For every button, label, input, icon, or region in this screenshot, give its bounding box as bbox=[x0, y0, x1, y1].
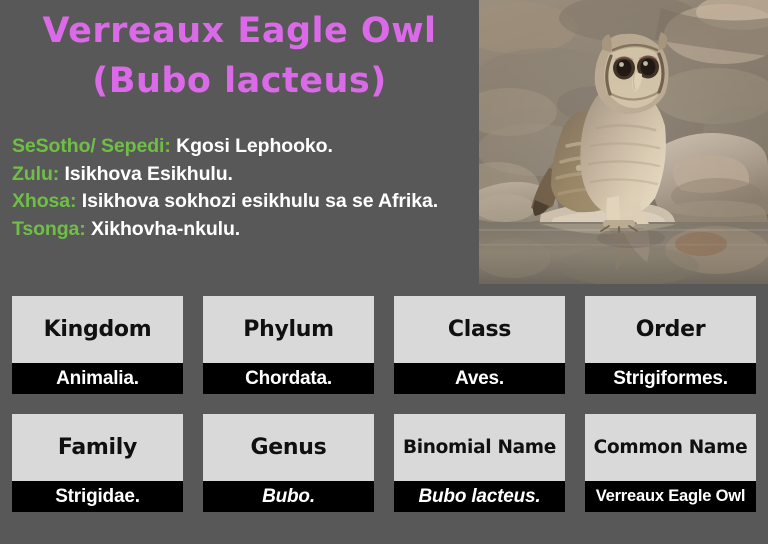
name-row: SeSotho/ Sepedi: Kgosi Lephooko. bbox=[12, 133, 474, 161]
title-line-common-name: Verreaux Eagle Owl bbox=[0, 6, 479, 56]
name-value: Xikhovha-nkulu. bbox=[91, 218, 240, 240]
name-label: Tsonga: bbox=[12, 218, 86, 240]
name-value: Kgosi Lephooko. bbox=[176, 135, 333, 157]
taxonomy-card-class: Class Aves. bbox=[394, 296, 565, 394]
taxonomy-card-order: Order Strigiformes. bbox=[585, 296, 756, 394]
taxonomy-value-bar: Strigiformes. bbox=[585, 363, 756, 394]
taxonomy-rank-label: Kingdom bbox=[44, 317, 152, 342]
taxonomy-value: Animalia. bbox=[56, 368, 139, 390]
name-value: Isikhova Esikhulu. bbox=[64, 163, 232, 185]
name-label: SeSotho/ Sepedi: bbox=[12, 135, 171, 157]
taxonomy-value: Bubo. bbox=[262, 486, 315, 508]
taxonomy-value: Chordata. bbox=[245, 368, 332, 390]
taxonomy-value-bar: Strigidae. bbox=[12, 481, 183, 512]
species-infographic: Verreaux Eagle Owl (Bubo lacteus) bbox=[0, 0, 768, 544]
page-title: Verreaux Eagle Owl (Bubo lacteus) bbox=[0, 6, 479, 106]
name-row: Xhosa: Isikhova sokhozi esikhulu sa se A… bbox=[12, 188, 474, 216]
taxonomy-rank-header: Binomial Name bbox=[394, 414, 565, 481]
taxonomy-rank-label: Common Name bbox=[594, 437, 748, 458]
taxonomy-rank-label: Binomial Name bbox=[403, 437, 556, 458]
name-row: Zulu: Isikhova Esikhulu. bbox=[12, 161, 474, 189]
vernacular-names-list: SeSotho/ Sepedi: Kgosi Lephooko. Zulu: I… bbox=[12, 133, 474, 243]
taxonomy-value: Strigiformes. bbox=[613, 368, 728, 390]
taxonomy-rank-header: Family bbox=[12, 414, 183, 481]
owl-icon bbox=[479, 0, 768, 284]
taxonomy-card-family: Family Strigidae. bbox=[12, 414, 183, 512]
name-value: Isikhova sokhozi esikhulu sa se Afrika. bbox=[82, 190, 438, 212]
taxonomy-rank-header: Phylum bbox=[203, 296, 374, 363]
taxonomy-rank-header: Kingdom bbox=[12, 296, 183, 363]
taxonomy-rank-label: Order bbox=[636, 317, 706, 342]
title-line-scientific-name: (Bubo lacteus) bbox=[0, 56, 479, 106]
taxonomy-value-bar: Chordata. bbox=[203, 363, 374, 394]
taxonomy-rank-label: Family bbox=[58, 435, 137, 460]
taxonomy-rank-header: Order bbox=[585, 296, 756, 363]
taxonomy-value: Strigidae. bbox=[55, 486, 140, 508]
taxonomy-rank-header: Common Name bbox=[585, 414, 756, 481]
taxonomy-value-bar: Verreaux Eagle Owl bbox=[585, 481, 756, 512]
taxonomy-grid: Kingdom Animalia. Phylum Chordata. Class… bbox=[12, 296, 756, 512]
taxonomy-card-kingdom: Kingdom Animalia. bbox=[12, 296, 183, 394]
taxonomy-value-bar: Bubo lacteus. bbox=[394, 481, 565, 512]
name-row: Tsonga: Xikhovha-nkulu. bbox=[12, 216, 474, 244]
taxonomy-card-binomial-name: Binomial Name Bubo lacteus. bbox=[394, 414, 565, 512]
taxonomy-value-bar: Bubo. bbox=[203, 481, 374, 512]
name-label: Xhosa: bbox=[12, 190, 76, 212]
taxonomy-rank-header: Genus bbox=[203, 414, 374, 481]
taxonomy-rank-header: Class bbox=[394, 296, 565, 363]
taxonomy-rank-label: Phylum bbox=[243, 317, 333, 342]
taxonomy-value: Aves. bbox=[455, 368, 504, 390]
taxonomy-rank-label: Genus bbox=[251, 435, 327, 460]
taxonomy-value-bar: Animalia. bbox=[12, 363, 183, 394]
taxonomy-value-bar: Aves. bbox=[394, 363, 565, 394]
taxonomy-value: Bubo lacteus. bbox=[419, 486, 541, 508]
taxonomy-rank-label: Class bbox=[448, 317, 511, 342]
owl-photo bbox=[479, 0, 768, 284]
name-label: Zulu: bbox=[12, 163, 59, 185]
taxonomy-card-common-name: Common Name Verreaux Eagle Owl bbox=[585, 414, 756, 512]
taxonomy-card-phylum: Phylum Chordata. bbox=[203, 296, 374, 394]
taxonomy-card-genus: Genus Bubo. bbox=[203, 414, 374, 512]
taxonomy-value: Verreaux Eagle Owl bbox=[596, 487, 746, 506]
